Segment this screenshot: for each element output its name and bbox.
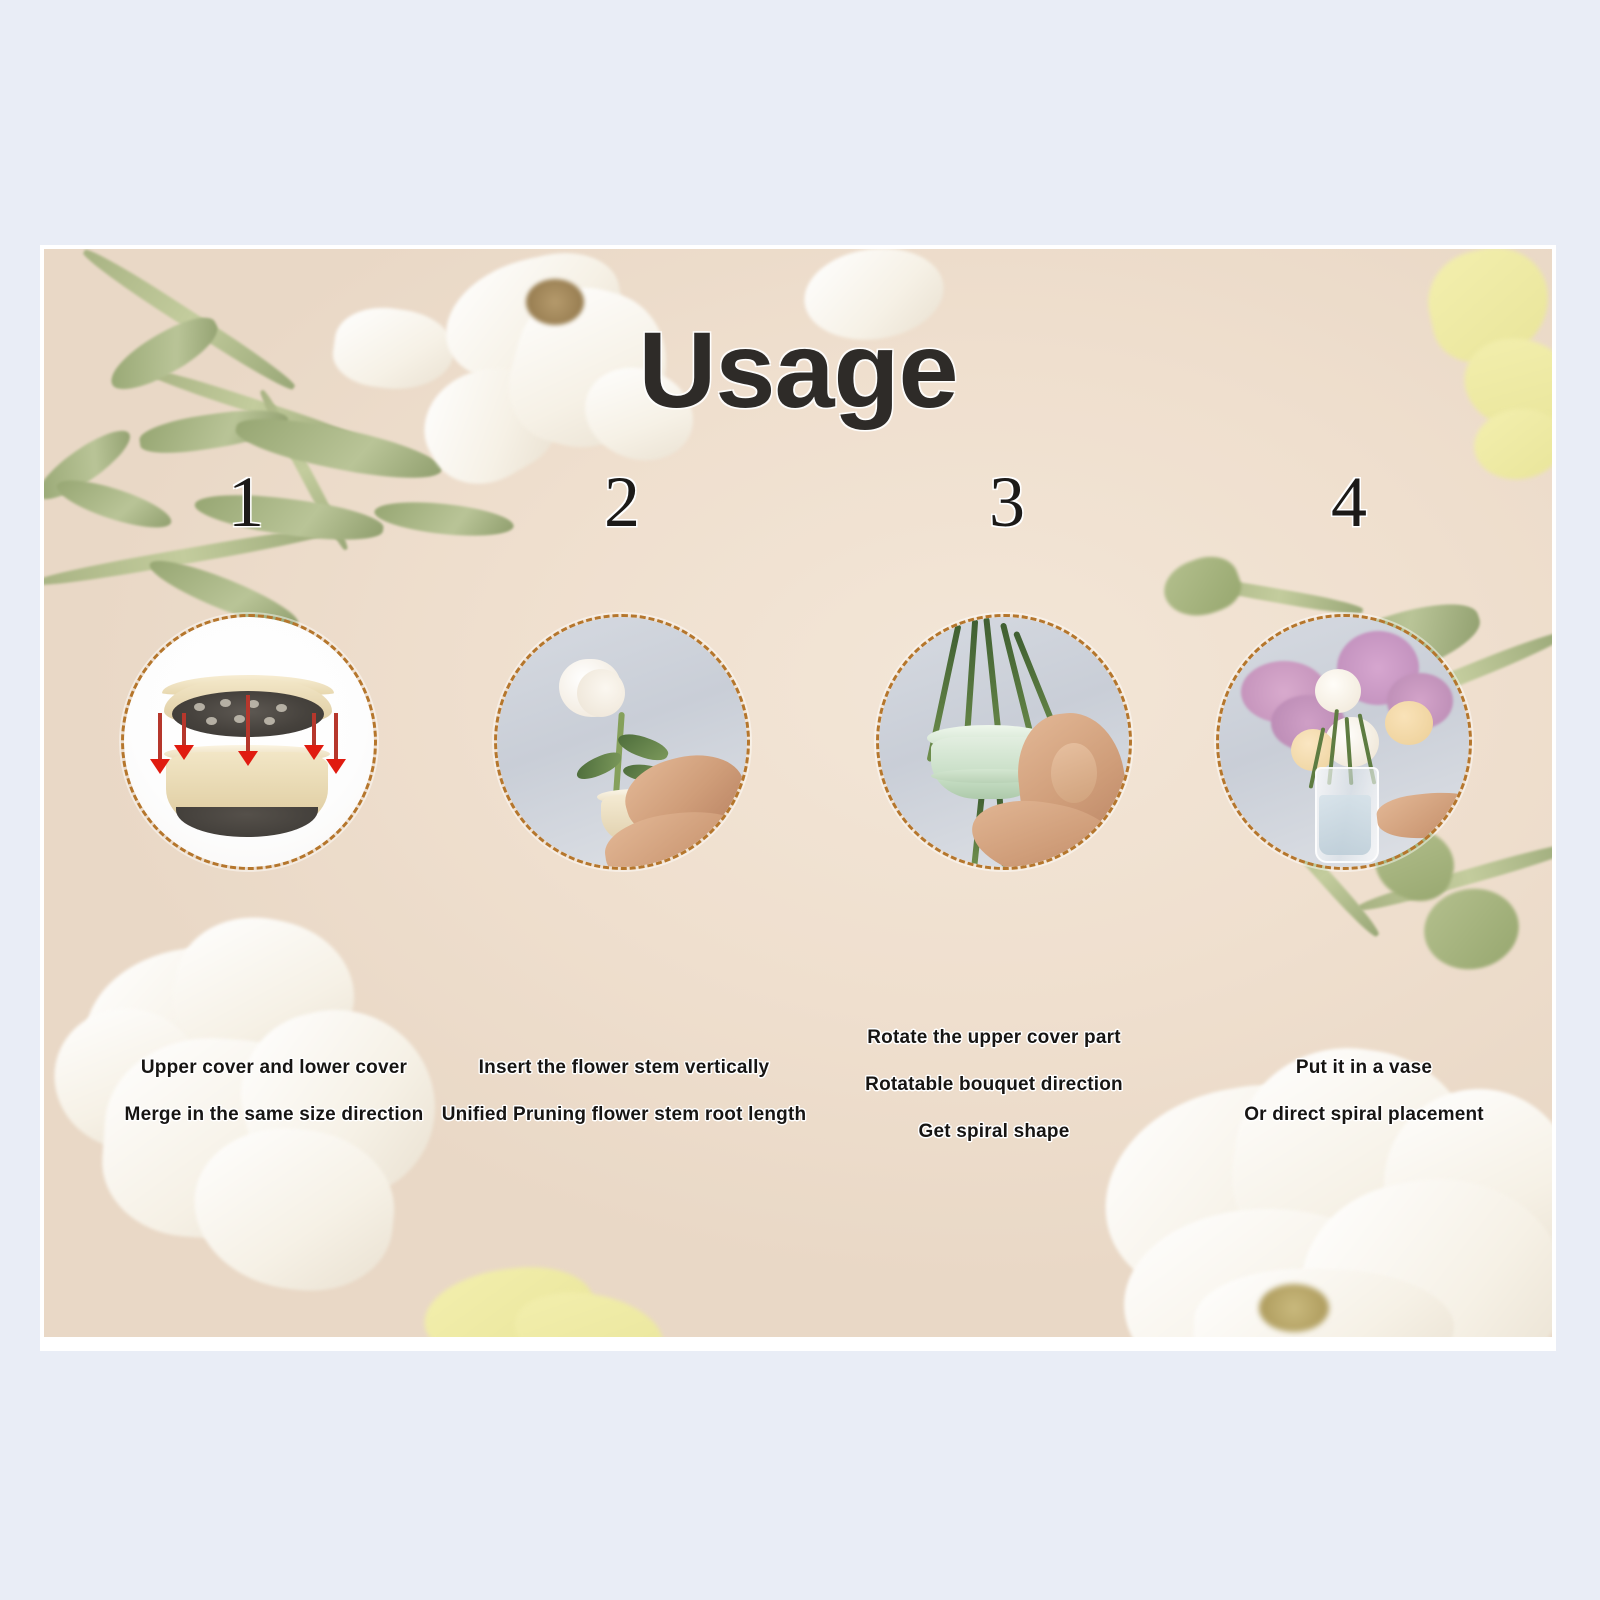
down-arrow-icon xyxy=(158,713,162,761)
frog-hole xyxy=(194,703,205,711)
caption-line: Put it in a vase xyxy=(1174,1049,1552,1086)
step-number-1: 1 xyxy=(186,461,306,544)
frog-hole xyxy=(264,717,275,725)
down-arrow-icon xyxy=(312,713,316,747)
step-photo-1[interactable] xyxy=(121,614,377,870)
leaf-decoration xyxy=(52,471,175,537)
caption-line: Get spiral shape xyxy=(814,1113,1174,1150)
caption-line: Or direct spiral placement xyxy=(1174,1096,1552,1133)
bouquet-placed-in-glass-vase-image xyxy=(1219,617,1469,867)
hand-rotating-mint-green-frog-with-stems-image xyxy=(879,617,1129,867)
frog-hole xyxy=(276,704,287,712)
rose-leaf xyxy=(615,728,671,766)
step-number-3: 3 xyxy=(947,461,1067,544)
step-photo-2[interactable] xyxy=(494,614,750,870)
step-photo-3[interactable] xyxy=(876,614,1132,870)
down-arrow-icon xyxy=(334,713,338,761)
caption-line: Rotate the upper cover part xyxy=(814,1019,1174,1056)
frog-hole xyxy=(206,717,217,725)
hands-inserting-rose-stem-into-frog-image xyxy=(497,617,747,867)
step-caption-2: Insert the flower stem vertically Unifie… xyxy=(424,1039,824,1143)
step-number-4: 4 xyxy=(1289,461,1409,544)
frog-lower-grid xyxy=(176,807,318,837)
vase-water xyxy=(1319,795,1371,855)
step-caption-4: Put it in a vase Or direct spiral placem… xyxy=(1174,1039,1552,1143)
flower-bud-decoration xyxy=(1157,548,1248,627)
white-rose xyxy=(1315,669,1361,713)
caption-line: Rotatable bouquet direction xyxy=(814,1066,1174,1103)
frog-hole xyxy=(234,715,245,723)
frog-hole xyxy=(220,699,231,707)
step-number-2: 2 xyxy=(562,461,682,544)
flower-frog-two-parts-exploded-image xyxy=(124,617,374,867)
step-caption-3: Rotate the upper cover part Rotatable bo… xyxy=(814,1009,1174,1160)
caption-line: Insert the flower stem vertically xyxy=(424,1049,824,1086)
peach-rose xyxy=(1385,701,1433,745)
thumb xyxy=(1051,743,1097,803)
poster-canvas: Usage 1 2 3 4 xyxy=(44,249,1552,1337)
poster-frame: Usage 1 2 3 4 xyxy=(40,245,1556,1351)
page-title: Usage xyxy=(44,307,1552,432)
down-arrow-icon xyxy=(246,695,250,753)
rose-bloom-inner xyxy=(577,669,625,717)
flower-center-decoration xyxy=(1259,1284,1329,1332)
step-photo-4[interactable] xyxy=(1216,614,1472,870)
leaf-decoration xyxy=(373,497,515,541)
caption-line: Unified Pruning flower stem root length xyxy=(424,1096,824,1133)
down-arrow-icon xyxy=(182,713,186,747)
